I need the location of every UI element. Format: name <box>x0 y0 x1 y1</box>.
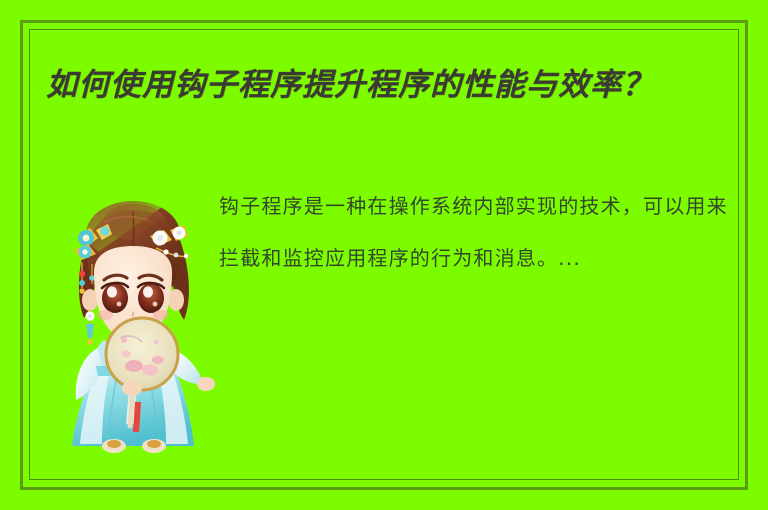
earring-left <box>85 310 94 345</box>
chibi-hanfu-girl-illustration <box>38 188 228 456</box>
article-excerpt: 钩子程序是一种在操作系统内部实现的技术，可以用来拦截和监控应用程序的行为和消息。… <box>219 180 729 284</box>
page-title: 如何使用钩子程序提升程序的性能与效率？ <box>46 60 736 110</box>
article-card: 如何使用钩子程序提升程序的性能与效率？ 钩子程序是一种在操作系统内部实现的技术，… <box>0 0 768 510</box>
